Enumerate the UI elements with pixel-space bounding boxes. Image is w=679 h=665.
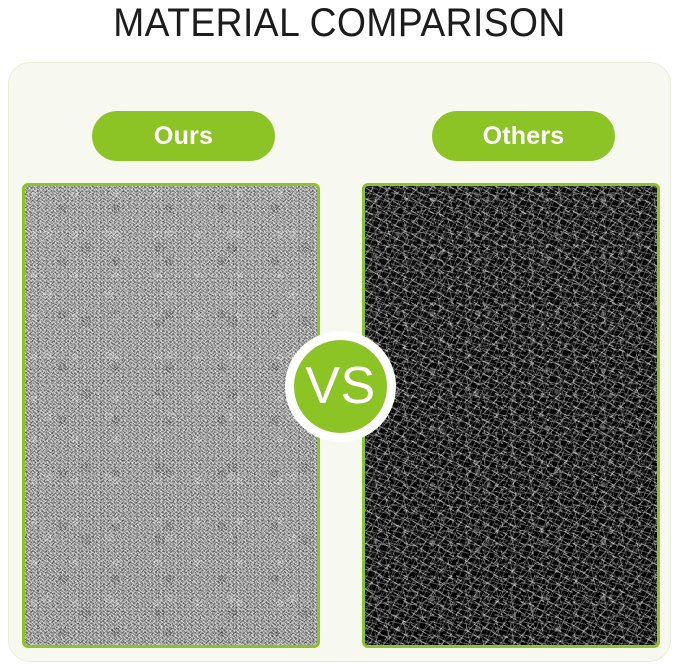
badge-others: Others: [432, 111, 615, 161]
dense-grey-felt-swatch: [25, 186, 317, 645]
material-panel-others: [362, 183, 660, 648]
material-panel-ours: [22, 183, 320, 648]
sparse-dark-fiber-swatch: [365, 186, 657, 645]
caption-others: SPARSE CPRD: [371, 655, 651, 662]
vs-badge: VS: [285, 331, 396, 442]
badge-ours: Ours: [92, 111, 275, 161]
page-title: MATERIAL COMPARISON: [24, 0, 655, 52]
comparison-card: Ours Others VS HIGH DENSITY SPARSE CPRD: [8, 62, 671, 662]
caption-ours: HIGH DENSITY: [31, 655, 311, 662]
